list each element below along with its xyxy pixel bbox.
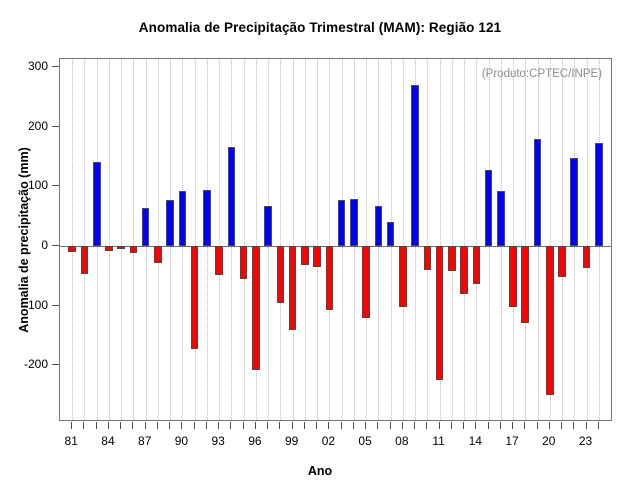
y-tick-label: -100 [8, 299, 48, 311]
x-tick-mark [500, 422, 501, 429]
y-tick-label: 100 [8, 179, 48, 191]
y-tick-mark [52, 185, 59, 186]
x-tick-mark [83, 422, 84, 429]
x-tick-mark [145, 422, 146, 429]
x-tick-mark [169, 422, 170, 429]
x-tick-mark [475, 422, 476, 429]
bar-92 [203, 190, 211, 246]
bar-15 [485, 170, 493, 246]
chart-title: Anomalia de Precipitação Trimestral (MAM… [0, 20, 640, 35]
x-tick-mark [341, 422, 342, 429]
bar-96 [252, 246, 260, 370]
bar-16 [497, 191, 505, 246]
x-tick-mark [488, 422, 489, 429]
bar-91 [191, 246, 199, 349]
x-tick-mark [108, 422, 109, 429]
bar-81 [68, 246, 76, 252]
x-tick-mark [426, 422, 427, 429]
bar-85 [117, 246, 125, 249]
x-tick-mark [573, 422, 574, 429]
x-tick-mark [230, 422, 231, 429]
x-tick-mark [377, 422, 378, 429]
bar-87 [142, 208, 150, 246]
x-tick-mark [586, 422, 587, 429]
y-tick-mark [52, 126, 59, 127]
grid-line-vertical [133, 59, 134, 420]
grid-line-vertical [244, 59, 245, 420]
y-tick-mark [52, 305, 59, 306]
source-annotation: (Produto:CPTEC/INPE) [482, 68, 602, 80]
x-axis-label: Ano [0, 464, 640, 478]
bar-09 [411, 85, 419, 246]
x-tick-mark [181, 422, 182, 429]
grid-line-vertical [219, 59, 220, 420]
x-tick-mark [279, 422, 280, 429]
grid-line-vertical [562, 59, 563, 420]
x-tick-mark [439, 422, 440, 429]
x-tick-label: 17 [497, 434, 527, 448]
x-tick-label: 87 [130, 434, 160, 448]
x-tick-label: 23 [571, 434, 601, 448]
grid-line-vertical [317, 59, 318, 420]
bar-21 [558, 246, 566, 277]
x-tick-mark [402, 422, 403, 429]
bar-88 [154, 246, 162, 263]
grid-line-vertical [452, 59, 453, 420]
x-tick-mark [537, 422, 538, 429]
x-tick-mark [267, 422, 268, 429]
y-tick-label: 0 [8, 239, 48, 251]
bar-14 [473, 246, 481, 284]
bar-02 [326, 246, 334, 310]
bar-94 [228, 147, 236, 246]
bar-20 [546, 246, 554, 395]
grid-line-vertical [403, 59, 404, 420]
bar-97 [264, 206, 272, 246]
x-tick-mark [561, 422, 562, 429]
x-tick-label: 20 [534, 434, 564, 448]
bar-89 [166, 200, 174, 246]
plot-area: (Produto:CPTEC/INPE) [59, 58, 612, 421]
grid-line-vertical [72, 59, 73, 420]
bar-99 [289, 246, 297, 330]
grid-line-vertical [195, 59, 196, 420]
bar-06 [375, 206, 383, 246]
x-tick-mark [71, 422, 72, 429]
x-tick-mark [120, 422, 121, 429]
x-tick-mark [353, 422, 354, 429]
x-tick-mark [206, 422, 207, 429]
y-tick-label: 200 [8, 120, 48, 132]
bar-23 [583, 246, 591, 268]
x-tick-label: 05 [350, 434, 380, 448]
grid-line-vertical [280, 59, 281, 420]
bar-24 [595, 143, 603, 246]
x-tick-mark [512, 422, 513, 429]
x-tick-label: 90 [166, 434, 196, 448]
bar-05 [362, 246, 370, 318]
x-tick-mark [255, 422, 256, 429]
x-tick-mark [292, 422, 293, 429]
x-tick-mark [414, 422, 415, 429]
x-tick-mark [304, 422, 305, 429]
x-tick-mark [463, 422, 464, 429]
x-tick-mark [328, 422, 329, 429]
x-tick-mark [451, 422, 452, 429]
bar-22 [570, 158, 578, 246]
x-tick-mark [365, 422, 366, 429]
grid-line-vertical [293, 59, 294, 420]
bar-95 [240, 246, 248, 279]
x-tick-label: 02 [313, 434, 343, 448]
bar-10 [424, 246, 432, 270]
y-tick-label: -200 [8, 358, 48, 370]
y-tick-label: 300 [8, 60, 48, 72]
grid-line-vertical [427, 59, 428, 420]
bar-84 [105, 246, 113, 251]
bar-90 [179, 191, 187, 246]
x-tick-mark [194, 422, 195, 429]
grid-line-vertical [366, 59, 367, 420]
bar-17 [509, 246, 517, 307]
grid-line-vertical [329, 59, 330, 420]
x-tick-label: 84 [93, 434, 123, 448]
x-tick-mark [157, 422, 158, 429]
grid-line-vertical [158, 59, 159, 420]
y-tick-mark [52, 364, 59, 365]
x-tick-label: 81 [56, 434, 86, 448]
grid-line-vertical [109, 59, 110, 420]
x-tick-label: 11 [424, 434, 454, 448]
bar-13 [460, 246, 468, 294]
grid-line-vertical [525, 59, 526, 420]
x-tick-mark [218, 422, 219, 429]
x-tick-mark [132, 422, 133, 429]
x-tick-mark [243, 422, 244, 429]
bar-98 [277, 246, 285, 303]
bar-86 [130, 246, 138, 253]
chart-root: Anomalia de Precipitação Trimestral (MAM… [0, 0, 640, 500]
grid-line-vertical [513, 59, 514, 420]
x-tick-label: 08 [387, 434, 417, 448]
x-tick-mark [598, 422, 599, 429]
x-tick-label: 96 [240, 434, 270, 448]
bar-19 [534, 139, 542, 246]
bar-83 [93, 162, 101, 246]
bar-82 [81, 246, 89, 274]
grid-line-vertical [587, 59, 588, 420]
bar-04 [350, 199, 358, 246]
x-tick-mark [549, 422, 550, 429]
x-tick-label: 14 [460, 434, 490, 448]
grid-line-vertical [476, 59, 477, 420]
x-tick-mark [524, 422, 525, 429]
grid-line-vertical [464, 59, 465, 420]
x-tick-label: 99 [277, 434, 307, 448]
grid-line-vertical [305, 59, 306, 420]
x-tick-mark [316, 422, 317, 429]
x-tick-label: 93 [203, 434, 233, 448]
bar-12 [448, 246, 456, 271]
bar-93 [215, 246, 223, 275]
y-tick-mark [52, 245, 59, 246]
bar-00 [301, 246, 309, 265]
x-tick-mark [96, 422, 97, 429]
bar-03 [338, 200, 346, 246]
bar-08 [399, 246, 407, 307]
y-tick-mark [52, 66, 59, 67]
bar-11 [436, 246, 444, 380]
bar-07 [387, 222, 395, 246]
grid-line-vertical [121, 59, 122, 420]
bar-18 [521, 246, 529, 323]
x-tick-mark [390, 422, 391, 429]
grid-line-vertical [84, 59, 85, 420]
bar-01 [313, 246, 321, 267]
